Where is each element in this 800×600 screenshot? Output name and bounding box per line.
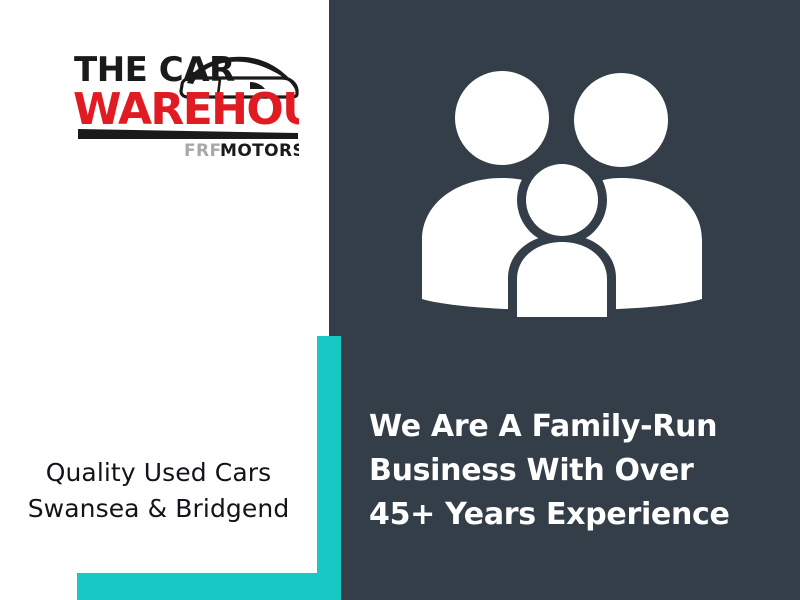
logo-sub-black: MOTORS: [220, 141, 299, 160]
logo-line-2: WAREHOUSE: [74, 84, 299, 135]
adult-right-head-icon: [574, 73, 668, 167]
family-group-icon: [412, 52, 712, 317]
headline-line-3: 45+ Years Experience: [369, 493, 769, 537]
headline-block: We Are A Family-Run Business With Over 4…: [369, 405, 769, 537]
tagline-block: Quality Used Cars Swansea & Bridgend: [0, 455, 317, 527]
tagline-line-2: Swansea & Bridgend: [0, 491, 317, 527]
tagline-line-1: Quality Used Cars: [0, 455, 317, 491]
adult-left-head-icon: [455, 71, 549, 165]
promo-poster: THE CAR WAREHOUSE FRF MOTORS Quality Use…: [0, 0, 800, 600]
teal-accent-bar-vertical: [317, 336, 341, 600]
teal-accent-bar-horizontal: [77, 573, 341, 600]
logo-sub-gray: FRF: [184, 141, 222, 160]
brand-logo: THE CAR WAREHOUSE FRF MOTORS: [74, 45, 299, 160]
headline-line-2: Business With Over: [369, 449, 769, 493]
headline-line-1: We Are A Family-Run: [369, 405, 769, 449]
